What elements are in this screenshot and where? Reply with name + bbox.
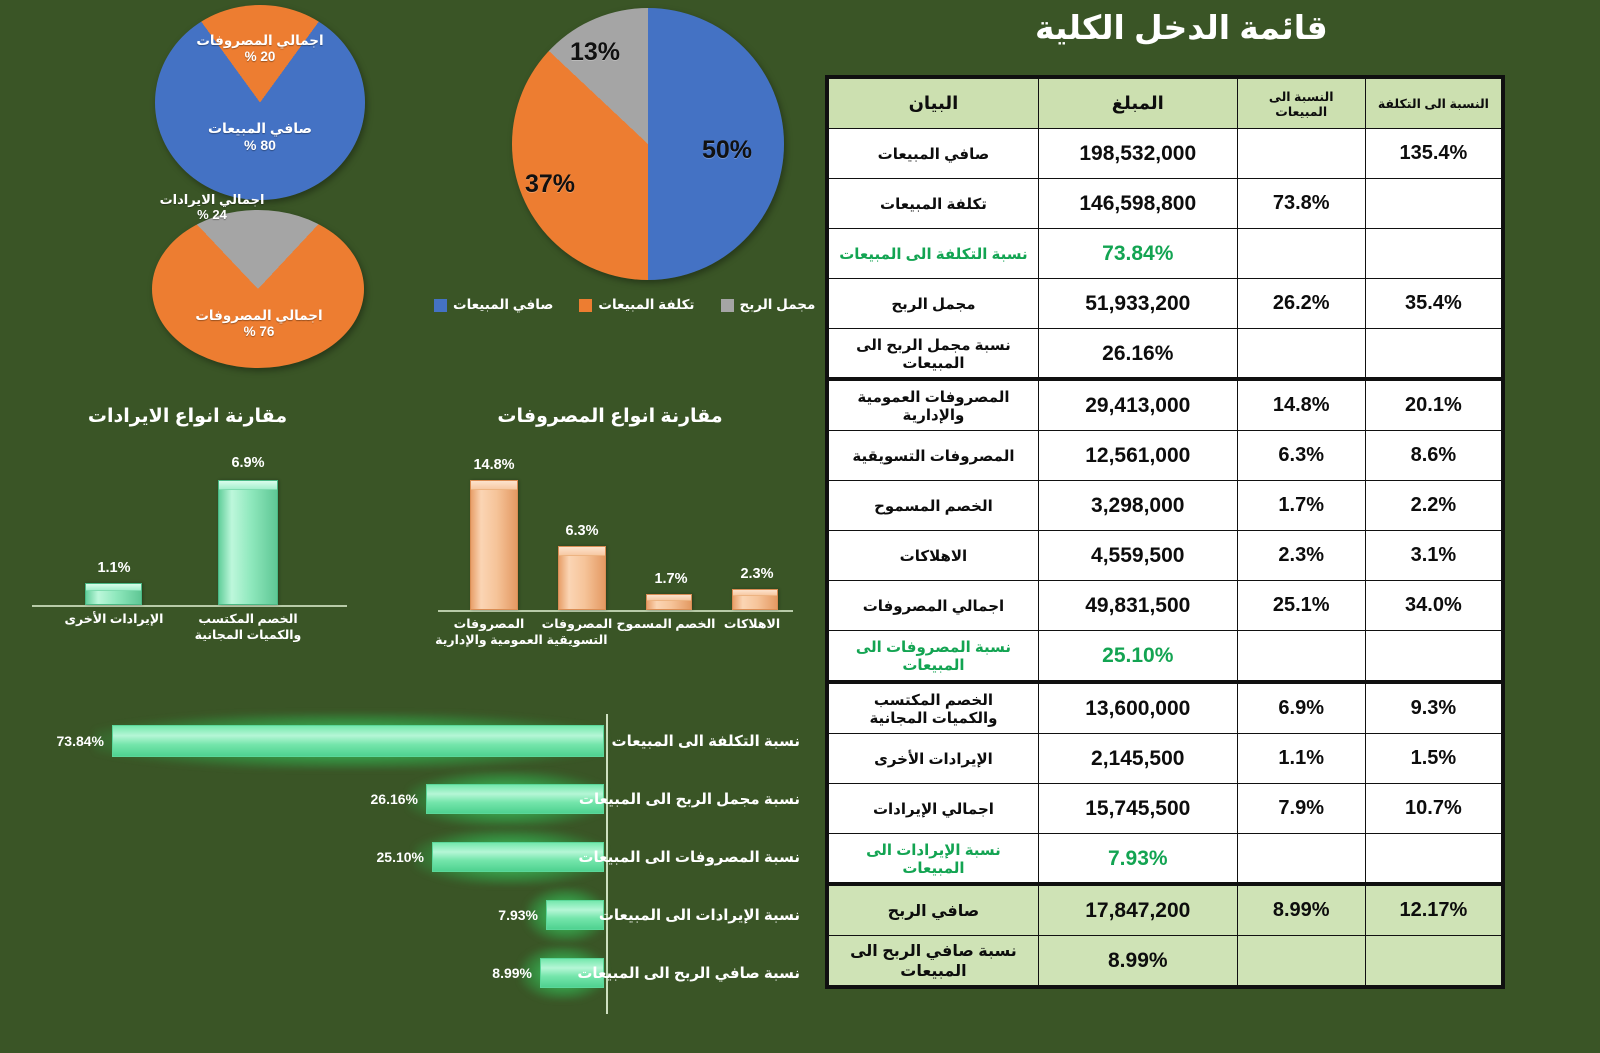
- cell-ratio-cost: 9.3%: [1365, 684, 1501, 734]
- revenue-bar-other-label: الإيرادات الأخرى: [55, 612, 173, 628]
- cell-ratio-sales: 7.9%: [1237, 784, 1365, 834]
- revenue-bar-discount: [218, 480, 278, 605]
- legend-item-gross-profit: مجمل الربح: [721, 297, 816, 313]
- cell-ratio-cost: 34.0%: [1365, 581, 1501, 631]
- table-row: 26.16% نسبة مجمل الربح الى المبيعات: [829, 329, 1502, 379]
- table-block-expenses: 20.1% 14.8% 29,413,000 المصروفات العمومي…: [825, 377, 1505, 684]
- expense-chart-axis: [438, 610, 793, 612]
- cell-amount: 49,831,500: [1038, 581, 1237, 631]
- table-row: 73.8% 146,598,800 تكلفة المبيعات: [829, 179, 1502, 229]
- expense-bar-marketing: [558, 546, 606, 610]
- pie-expenses-revenues-graphic: [152, 210, 364, 368]
- table-row: 135.4% 198,532,000 صافي المبيعات: [829, 129, 1502, 179]
- cell-desc: الاهلاكات: [829, 531, 1039, 581]
- key-ratio-label-gross-profit-to-sales: نسبة مجمل الربح الى المبيعات: [579, 790, 800, 808]
- pie3-value-profit: 13%: [570, 38, 620, 67]
- cell-desc: نسبة المصروفات الى المبيعات: [829, 631, 1039, 681]
- key-ratio-value-cost-to-sales: 73.84%: [57, 733, 104, 749]
- cell-desc: نسبة التكلفة الى المبيعات: [829, 229, 1039, 279]
- key-ratio-bar-revenues-to-sales: [546, 900, 604, 930]
- cell-desc: نسبة صافي الربح الى المبيعات: [829, 936, 1039, 986]
- key-ratio-row: 8.99% نسبة صافي الربح الى المبيعات: [0, 942, 810, 1004]
- chart-expense-types: مقارنة انواع المصروفات 14.8% المصروفات ا…: [410, 405, 810, 665]
- cell-ratio-cost: 1.5%: [1365, 734, 1501, 784]
- expense-bar-admin: [470, 480, 518, 610]
- cell-ratio-sales: 73.8%: [1237, 179, 1365, 229]
- cell-ratio-cost: 35.4%: [1365, 279, 1501, 329]
- cell-ratio-cost: 20.1%: [1365, 381, 1501, 431]
- cell-amount: 17,847,200: [1038, 886, 1237, 936]
- pie1-slice-label-sales: صافي المبيعات 80 %: [180, 120, 340, 153]
- pie2-slice-label-expenses: اجمالي المصروفات 76 %: [174, 308, 344, 340]
- cell-amount: 12,561,000: [1038, 431, 1237, 481]
- cell-desc: المصروفات العمومية والإدارية: [829, 381, 1039, 431]
- cell-ratio-cost: [1365, 179, 1501, 229]
- cell-ratio-cost: [1365, 229, 1501, 279]
- cell-ratio-cost: 3.1%: [1365, 531, 1501, 581]
- cell-amount: 8.99%: [1038, 936, 1237, 986]
- expense-bar-depreciation-value: 2.3%: [697, 566, 817, 582]
- cell-desc: صافي الربح: [829, 886, 1039, 936]
- revenue-bar-discount-value: 6.9%: [188, 455, 308, 471]
- chart-key-ratios: 73.84% نسبة التكلفة الى المبيعات 26.16% …: [0, 700, 810, 1045]
- expense-bar-discount-allowed: [646, 594, 692, 610]
- cell-ratio-sales: 26.2%: [1237, 279, 1365, 329]
- cell-ratio-sales: 8.99%: [1237, 886, 1365, 936]
- table-row: 12.17% 8.99% 17,847,200 صافي الربح: [829, 886, 1502, 936]
- cell-desc: الخصم المكتسب والكميات المجانية: [829, 684, 1039, 734]
- pie2-slice-label-revenues: اجمالي الايرادات 24 %: [127, 192, 297, 223]
- table-block-gross-profit: النسبة الى التكلفة النسبة الى المبيعات ا…: [825, 75, 1505, 382]
- table-row: 35.4% 26.2% 51,933,200 مجمل الربح: [829, 279, 1502, 329]
- cell-ratio-cost: 8.6%: [1365, 431, 1501, 481]
- cell-desc: نسبة مجمل الربح الى المبيعات: [829, 329, 1039, 379]
- pie-chart-sales-expenses: اجمالي المصروفات 20 % صافي المبيعات 80 %: [155, 5, 365, 200]
- key-ratio-label-cost-to-sales: نسبة التكلفة الى المبيعات: [612, 732, 800, 750]
- table-row: 20.1% 14.8% 29,413,000 المصروفات العمومي…: [829, 381, 1502, 431]
- pie-chart-main-breakdown: 50% 37% 13%: [512, 8, 784, 280]
- key-ratio-label-expenses-to-sales: نسبة المصروفات الى المبيعات: [578, 848, 800, 866]
- key-ratio-row: 7.93% نسبة الإيرادات الى المبيعات: [0, 884, 810, 946]
- cell-amount: 51,933,200: [1038, 279, 1237, 329]
- cell-ratio-cost: [1365, 834, 1501, 884]
- key-ratio-row: 73.84% نسبة التكلفة الى المبيعات: [0, 710, 810, 772]
- cell-desc: نسبة الإيرادات الى المبيعات: [829, 834, 1039, 884]
- expense-bar-admin-value: 14.8%: [434, 457, 554, 473]
- table-row: 2.2% 1.7% 3,298,000 الخصم المسموح: [829, 481, 1502, 531]
- cell-amount: 15,745,500: [1038, 784, 1237, 834]
- cell-ratio-sales: [1237, 834, 1365, 884]
- table-row: 10.7% 7.9% 15,745,500 اجمالي الإيرادات: [829, 784, 1502, 834]
- cell-amount: 198,532,000: [1038, 129, 1237, 179]
- financial-table-net-profit: 12.17% 8.99% 17,847,200 صافي الربح 8.99%…: [828, 885, 1502, 986]
- key-ratio-value-net-profit-to-sales: 8.99%: [492, 965, 532, 981]
- pie1-slice-label-expenses: اجمالي المصروفات 20 %: [175, 33, 345, 65]
- cell-ratio-sales: 1.7%: [1237, 481, 1365, 531]
- cell-amount: 2,145,500: [1038, 734, 1237, 784]
- table-row: 8.6% 6.3% 12,561,000 المصروفات التسويقية: [829, 431, 1502, 481]
- cell-ratio-sales: 14.8%: [1237, 381, 1365, 431]
- table-row: 3.1% 2.3% 4,559,500 الاهلاكات: [829, 531, 1502, 581]
- cell-ratio-sales: [1237, 329, 1365, 379]
- legend-swatch-orange-icon: [579, 299, 592, 312]
- cell-ratio-cost: [1365, 631, 1501, 681]
- table-block-net-profit: 12.17% 8.99% 17,847,200 صافي الربح 8.99%…: [825, 882, 1505, 989]
- legend-swatch-blue-icon: [434, 299, 447, 312]
- cell-ratio-cost: [1365, 329, 1501, 379]
- page-title: قائمة الدخل الكلية: [1035, 8, 1328, 47]
- chart-revenue-types: مقارنة انواع الايرادات 6.9% الخصم المكتس…: [10, 405, 365, 655]
- cell-ratio-sales: [1237, 631, 1365, 681]
- cell-desc: تكلفة المبيعات: [829, 179, 1039, 229]
- cell-ratio-sales: [1237, 936, 1365, 986]
- cell-desc: اجمالي المصروفات: [829, 581, 1039, 631]
- cell-ratio-cost: 10.7%: [1365, 784, 1501, 834]
- cell-ratio-cost: 12.17%: [1365, 886, 1501, 936]
- financial-table-gross-profit: النسبة الى التكلفة النسبة الى المبيعات ا…: [828, 78, 1502, 379]
- revenue-bar-other: [85, 583, 142, 605]
- legend-item-cost-of-sales: تكلفة المبيعات: [579, 297, 694, 313]
- col-header-ratio-sales: النسبة الى المبيعات: [1237, 79, 1365, 129]
- cell-ratio-cost: 2.2%: [1365, 481, 1501, 531]
- key-ratio-label-revenues-to-sales: نسبة الإيرادات الى المبيعات: [599, 906, 800, 924]
- chart-revenue-types-title: مقارنة انواع الايرادات: [10, 405, 365, 428]
- table-block-revenues: 9.3% 6.9% 13,600,000 الخصم المكتسب والكم…: [825, 680, 1505, 887]
- cell-amount: 73.84%: [1038, 229, 1237, 279]
- cell-ratio-sales: 25.1%: [1237, 581, 1365, 631]
- key-ratio-bar-gross-profit-to-sales: [426, 784, 604, 814]
- expense-bar-depreciation: [732, 589, 778, 610]
- table-row: 8.99% نسبة صافي الربح الى المبيعات: [829, 936, 1502, 986]
- expense-bar-depreciation-label: الاهلاكات: [698, 617, 806, 633]
- cell-ratio-sales: [1237, 229, 1365, 279]
- expense-bar-marketing-value: 6.3%: [522, 523, 642, 539]
- cell-ratio-sales: 6.3%: [1237, 431, 1365, 481]
- chart-expense-types-title: مقارنة انواع المصروفات: [410, 405, 810, 428]
- col-header-ratio-cost: النسبة الى التكلفة: [1365, 79, 1501, 129]
- cell-desc: الخصم المسموح: [829, 481, 1039, 531]
- table-row: 7.93% نسبة الإيرادات الى المبيعات: [829, 834, 1502, 884]
- cell-ratio-cost: 135.4%: [1365, 129, 1501, 179]
- cell-desc: المصروفات التسويقية: [829, 431, 1039, 481]
- legend-label-gross-profit: مجمل الربح: [740, 297, 816, 313]
- pie-chart-expenses-revenues: اجمالي الايرادات 24 % اجمالي المصروفات 7…: [152, 210, 364, 368]
- cell-ratio-cost: [1365, 936, 1501, 986]
- key-ratio-row: 25.10% نسبة المصروفات الى المبيعات: [0, 826, 810, 888]
- legend-label-net-sales: صافي المبيعات: [453, 297, 553, 313]
- cell-desc: صافي المبيعات: [829, 129, 1039, 179]
- cell-amount: 13,600,000: [1038, 684, 1237, 734]
- table-header-row: النسبة الى التكلفة النسبة الى المبيعات ا…: [829, 79, 1502, 129]
- cell-amount: 3,298,000: [1038, 481, 1237, 531]
- table-row: 25.10% نسبة المصروفات الى المبيعات: [829, 631, 1502, 681]
- cell-amount: 26.16%: [1038, 329, 1237, 379]
- col-header-amount: المبلغ: [1038, 79, 1237, 129]
- legend-label-cost-of-sales: تكلفة المبيعات: [598, 297, 694, 313]
- cell-amount: 25.10%: [1038, 631, 1237, 681]
- pie3-legend: صافي المبيعات تكلفة المبيعات مجمل الربح: [434, 297, 815, 313]
- cell-ratio-sales: 2.3%: [1237, 531, 1365, 581]
- key-ratio-value-gross-profit-to-sales: 26.16%: [371, 791, 418, 807]
- legend-item-net-sales: صافي المبيعات: [434, 297, 553, 313]
- financial-table-expenses: 20.1% 14.8% 29,413,000 المصروفات العمومي…: [828, 380, 1502, 681]
- table-row: 34.0% 25.1% 49,831,500 اجمالي المصروفات: [829, 581, 1502, 631]
- cell-desc: اجمالي الإيرادات: [829, 784, 1039, 834]
- key-ratio-bar-cost-to-sales: [112, 725, 604, 757]
- revenue-bar-discount-label: الخصم المكتسب والكميات المجانية: [189, 612, 307, 643]
- col-header-desc: البيان: [829, 79, 1039, 129]
- dashboard-root: اجمالي المصروفات 20 % صافي المبيعات 80 %…: [0, 0, 1600, 1053]
- pie3-value-sales: 50%: [702, 136, 752, 165]
- financial-table-revenues: 9.3% 6.9% 13,600,000 الخصم المكتسب والكم…: [828, 683, 1502, 884]
- cell-ratio-sales: 6.9%: [1237, 684, 1365, 734]
- cell-ratio-sales: 1.1%: [1237, 734, 1365, 784]
- cell-amount: 4,559,500: [1038, 531, 1237, 581]
- table-row: 73.84% نسبة التكلفة الى المبيعات: [829, 229, 1502, 279]
- cell-amount: 29,413,000: [1038, 381, 1237, 431]
- table-row: 9.3% 6.9% 13,600,000 الخصم المكتسب والكم…: [829, 684, 1502, 734]
- cell-desc: الإيرادات الأخرى: [829, 734, 1039, 784]
- key-ratio-value-expenses-to-sales: 25.10%: [377, 849, 424, 865]
- key-ratio-label-net-profit-to-sales: نسبة صافي الربح الى المبيعات: [577, 964, 800, 982]
- cell-amount: 7.93%: [1038, 834, 1237, 884]
- key-ratio-value-revenues-to-sales: 7.93%: [498, 907, 538, 923]
- table-row: 1.5% 1.1% 2,145,500 الإيرادات الأخرى: [829, 734, 1502, 784]
- legend-swatch-gray-icon: [721, 299, 734, 312]
- pie3-value-cost: 37%: [525, 170, 575, 199]
- revenue-chart-axis: [32, 605, 347, 607]
- cell-amount: 146,598,800: [1038, 179, 1237, 229]
- cell-desc: مجمل الربح: [829, 279, 1039, 329]
- key-ratio-row: 26.16% نسبة مجمل الربح الى المبيعات: [0, 768, 810, 830]
- revenue-bar-other-value: 1.1%: [54, 560, 174, 576]
- cell-ratio-sales: [1237, 129, 1365, 179]
